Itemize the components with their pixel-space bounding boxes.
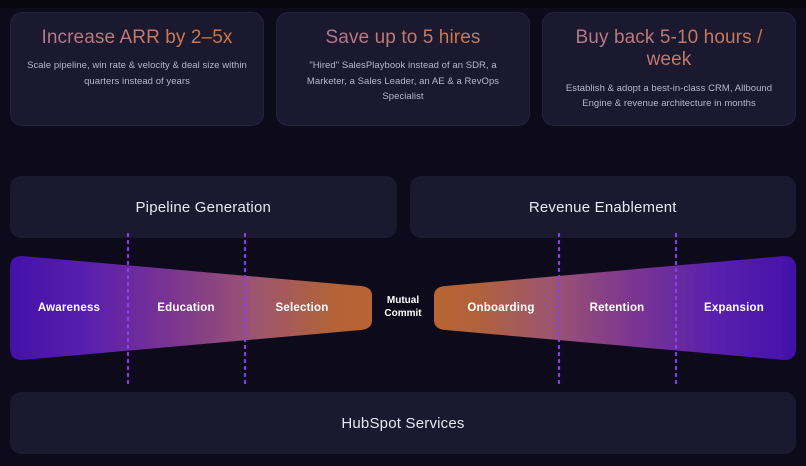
funnel-right-shape [434,256,796,360]
value-card: Increase ARR by 2–5x Scale pipeline, win… [10,12,264,126]
funnel-svg [0,232,806,388]
funnel-left-shape [10,256,372,360]
value-cards-row: Increase ARR by 2–5x Scale pipeline, win… [0,12,806,126]
value-card-description: Scale pipeline, win rate & velocity & de… [27,58,247,89]
bottom-bar-hubspot-services: HubSpot Services [10,392,796,454]
value-card: Buy back 5-10 hours / week Establish & a… [542,12,796,126]
value-card-title: Save up to 5 hires [326,27,481,49]
section-bars-row: Pipeline Generation Revenue Enablement [0,176,806,238]
section-bar-label: Pipeline Generation [135,199,271,216]
value-card: Save up to 5 hires "Hired" SalesPlaybook… [276,12,530,126]
value-card-title: Increase ARR by 2–5x [41,27,232,49]
top-strip [0,0,806,8]
section-bar-pipeline-generation: Pipeline Generation [10,176,397,238]
bottom-bar-label: HubSpot Services [341,415,464,432]
value-card-title: Buy back 5-10 hours / week [559,27,779,72]
section-bar-label: Revenue Enablement [529,199,677,216]
page-root: Increase ARR by 2–5x Scale pipeline, win… [0,0,806,466]
value-card-description: "Hired" SalesPlaybook instead of an SDR,… [293,58,513,104]
value-card-description: Establish & adopt a best-in-class CRM, A… [559,81,779,112]
section-bar-revenue-enablement: Revenue Enablement [410,176,797,238]
funnel-diagram: Awareness Education Selection Mutual Com… [0,232,806,388]
